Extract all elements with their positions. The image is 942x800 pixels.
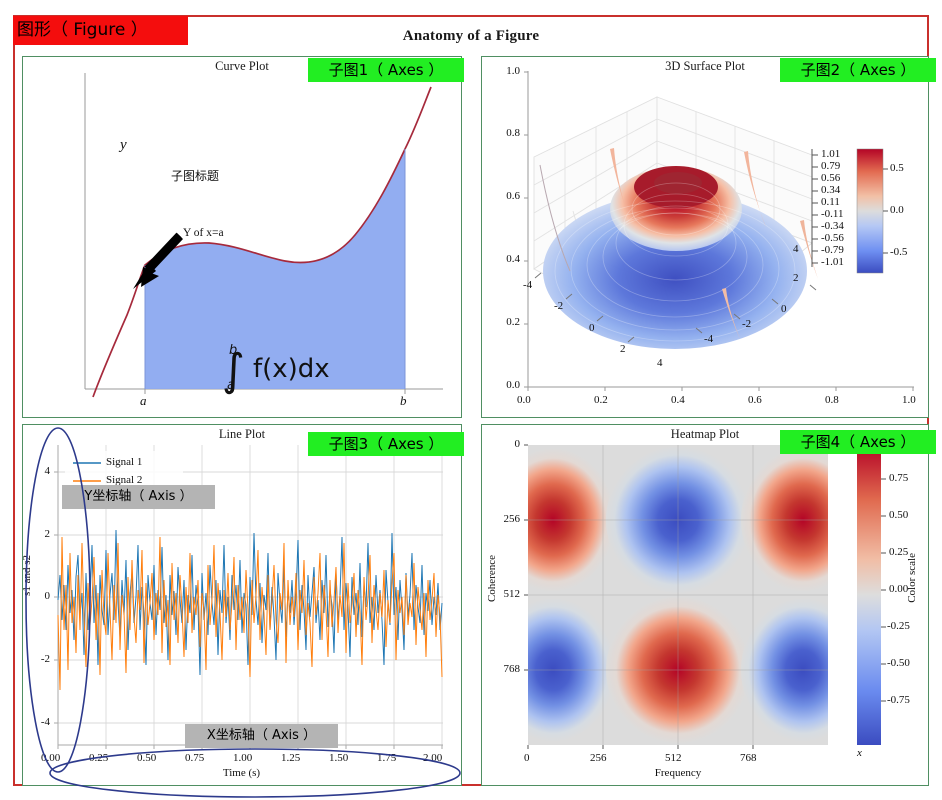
heatmap-ytick-1: 256	[484, 513, 520, 525]
surface-plot-canvas	[482, 57, 927, 416]
curve-plot-ylabel: y	[120, 137, 127, 154]
subplot-curve-plot[interactable]: Curve Plot y 子图标题 Y of x=	[22, 56, 462, 418]
heatmap-ytick-0: 0	[484, 438, 520, 450]
curve-plot-inner-title: 子图标题	[171, 167, 219, 184]
annotation-figure-label: 图形（ Figure ）	[13, 16, 188, 45]
integral-upper-limit: b	[229, 343, 243, 358]
heatmap-colorbar-label: Color scale	[906, 553, 918, 603]
curve-plot-integral: ∫ b a f(x)dx	[222, 347, 336, 386]
surface-xtick-2: 0	[589, 322, 595, 334]
line-plot-ylabel: s1 and s2	[21, 555, 33, 596]
surface-ztick-2: 0.56	[821, 172, 840, 184]
surface-outer-ytick-4: 0.8	[484, 127, 520, 139]
subplot-heatmap-plot[interactable]: Heatmap Plot	[481, 424, 929, 786]
line-plot-ytick-0: -4	[25, 716, 50, 728]
figure-canvas: Anatomy of a Figure 图形（ Figure ） Curve P…	[0, 0, 942, 800]
surface-outer-ytick-0: 0.0	[484, 379, 520, 391]
surface-ztick-5: -0.11	[821, 208, 844, 220]
heatmap-colorbar-tick-4: -0.25	[887, 620, 910, 632]
annotation-axes4-label: 子图4（ Axes ）	[780, 430, 936, 454]
integral-body: f(x)dx	[253, 354, 330, 384]
line-plot-ytick-4: 4	[25, 465, 50, 477]
heatmap-xlabel: Frequency	[528, 767, 828, 779]
surface-colorbar-tick-0: 0.5	[890, 162, 904, 174]
annotation-axes1-label: 子图1（ Axes ）	[308, 58, 464, 82]
surface-ytick-0: -4	[704, 333, 713, 345]
surface-outer-ytick-3: 0.6	[484, 190, 520, 202]
heatmap-colorbar-tick-1: 0.50	[889, 509, 908, 521]
surface-ztick-8: -0.79	[821, 244, 844, 256]
surface-outer-xtick-3: 0.6	[748, 394, 762, 406]
heatmap-colorbar-tick-5: -0.50	[887, 657, 910, 669]
curve-plot-xtick-a: a	[140, 393, 147, 409]
line-plot-xtick-8: 2.00	[423, 752, 442, 764]
heatmap-ylabel: Coherence	[486, 555, 498, 602]
line-plot-xtick-5: 1.25	[281, 752, 300, 764]
annotation-axes2-label: 子图2（ Axes ）	[780, 58, 936, 82]
surface-ztick-6: -0.34	[821, 220, 844, 232]
surface-outer-xtick-4: 0.8	[825, 394, 839, 406]
annotation-yaxis-label: Y坐标轴（ Axis ）	[62, 485, 215, 509]
line-plot-ytick-1: -2	[25, 653, 50, 665]
surface-colorbar	[857, 149, 883, 273]
curve-plot-annotation-text: Y of x=a	[183, 227, 224, 239]
surface-outer-xtick-5: 1.0	[902, 394, 916, 406]
surface-ztick-4: 0.11	[821, 196, 840, 208]
surface-xtick-1: -2	[554, 300, 563, 312]
surface-outer-xtick-0: 0.0	[517, 394, 531, 406]
surface-colorbar-tick-1: 0.0	[890, 204, 904, 216]
heatmap-plot-canvas	[482, 425, 927, 784]
line-plot-xtick-7: 1.75	[377, 752, 396, 764]
annotation-axes3-label: 子图3（ Axes ）	[308, 432, 464, 456]
line-plot-xtick-4: 1.00	[233, 752, 252, 764]
integral-lower-limit: a	[227, 378, 241, 393]
line-plot-xlabel: Time (s)	[23, 767, 460, 779]
heatmap-xtick-0: 0	[524, 752, 530, 764]
heatmap-ytick-3: 768	[484, 663, 520, 675]
surface-xtick-0: -4	[523, 279, 532, 291]
surface-outer-ytick-5: 1.0	[484, 65, 520, 77]
surface-ytick-2: 0	[781, 303, 787, 315]
surface-ztick-1: 0.79	[821, 160, 840, 172]
line-plot-xtick-1: 0.25	[89, 752, 108, 764]
line-plot-xtick-6: 1.50	[329, 752, 348, 764]
surface-colorbar-tick-2: -0.5	[890, 246, 907, 258]
surface-outer-ytick-2: 0.4	[484, 253, 520, 265]
line-plot-legend-label-0: Signal 1	[106, 456, 142, 468]
surface-outer-ytick-1: 0.2	[484, 316, 520, 328]
heatmap-xtick-3: 768	[740, 752, 757, 764]
surface-ztick-0: 1.01	[821, 148, 840, 160]
line-plot-xtick-2: 0.50	[137, 752, 156, 764]
heatmap-colorbar-bottom-label: x	[857, 747, 862, 759]
subplot-surface-plot[interactable]: 3D Surface Plot	[481, 56, 929, 418]
heatmap-xtick-2: 512	[665, 752, 682, 764]
surface-outer-xtick-1: 0.2	[594, 394, 608, 406]
annotation-xaxis-label: X坐标轴（ Axis ）	[185, 724, 338, 748]
surface-xtick-4: 4	[657, 357, 663, 369]
surface-ytick-4: 4	[793, 243, 799, 255]
line-plot-xtick-3: 0.75	[185, 752, 204, 764]
line-plot-ytick-3: 2	[25, 528, 50, 540]
surface-ytick-3: 2	[793, 272, 799, 284]
surface-ztick-9: -1.01	[821, 256, 844, 268]
surface-ytick-1: -2	[742, 318, 751, 330]
heatmap-colorbar-tick-0: 0.75	[889, 472, 908, 484]
heatmap-colorbar-tick-6: -0.75	[887, 694, 910, 706]
line-plot-xtick-0: 0.00	[41, 752, 60, 764]
surface-outer-xtick-2: 0.4	[671, 394, 685, 406]
surface-ztick-7: -0.56	[821, 232, 844, 244]
heatmap-xtick-1: 256	[590, 752, 607, 764]
surface-ztick-3: 0.34	[821, 184, 840, 196]
curve-plot-xtick-b: b	[400, 393, 407, 409]
surface-xtick-3: 2	[620, 343, 626, 355]
heatmap-colorbar	[857, 445, 881, 745]
